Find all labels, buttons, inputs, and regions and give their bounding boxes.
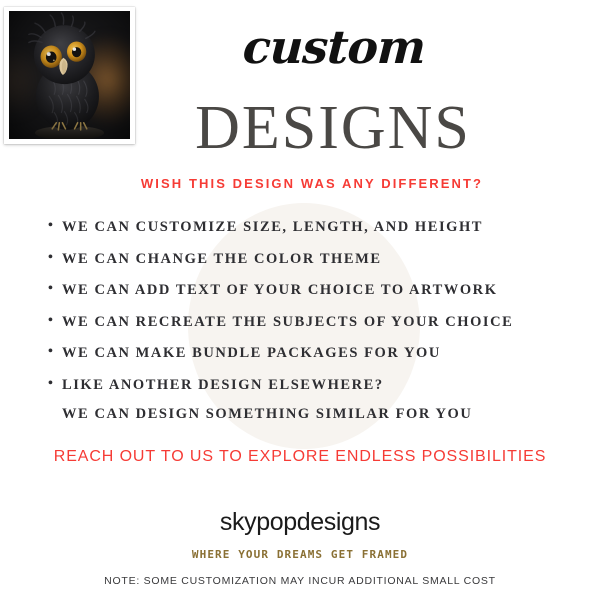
footnote-disclaimer: NOTE: SOME CUSTOMIZATION MAY INCUR ADDIT… [0, 575, 600, 587]
subtitle: WISH THIS DESIGN WAS ANY DIFFERENT? [12, 176, 600, 191]
call-to-action-text[interactable]: REACH OUT TO US TO EXPLORE ENDLESS POSSI… [0, 448, 600, 466]
list-item: WE CAN CHANGE THE COLOR THEME [48, 251, 513, 268]
list-item: WE CAN CUSTOMIZE SIZE, LENGTH, AND HEIGH… [48, 219, 513, 236]
promo-poster: custom DESIGNS WISH THIS DESIGN WAS ANY … [0, 0, 600, 600]
list-item: WE CAN RECREATE THE SUBJECTS OF YOUR CHO… [48, 314, 513, 331]
framed-artwork[interactable] [4, 7, 135, 144]
artwork-vignette [9, 11, 130, 139]
list-item: WE CAN MAKE BUNDLE PACKAGES FOR YOU [48, 345, 513, 362]
feature-list: WE CAN CUSTOMIZE SIZE, LENGTH, AND HEIGH… [48, 219, 513, 437]
list-item: WE CAN ADD TEXT OF YOUR CHOICE TO ARTWOR… [48, 282, 513, 299]
list-item: LIKE ANOTHER DESIGN ELSEWHERE? [48, 377, 513, 394]
brand-logo-text: skypopdesigns [0, 508, 600, 537]
list-item-continuation: WE CAN DESIGN SOMETHING SIMILAR FOR YOU [48, 406, 513, 423]
artwork-canvas [9, 11, 130, 139]
brand-tagline: WHERE YOUR DREAMS GET FRAMED [0, 548, 600, 561]
